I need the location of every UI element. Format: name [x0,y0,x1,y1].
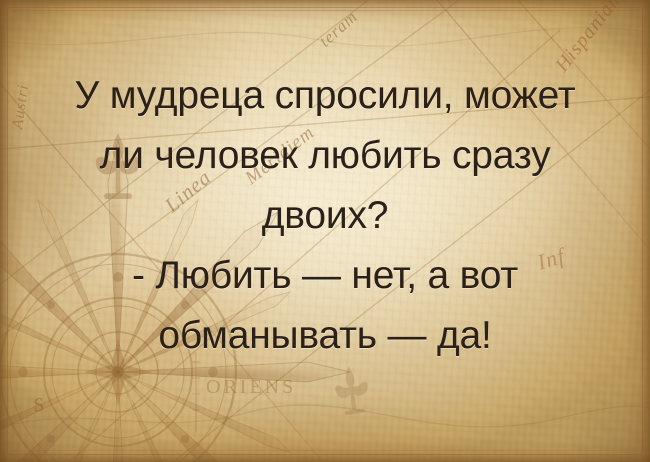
quote-line-2: ли человек любить сразу [0,126,650,186]
quote-line-3: двоих? [0,186,650,246]
quote-poster: Linea Hispaniam Meridiem ORIENS Inf tera… [0,0,650,462]
quote-text-block: У мудреца спросили, может ли человек люб… [0,66,650,366]
quote-line-1: У мудреца спросили, может [0,66,650,126]
quote-line-5: обманывать — да! [0,306,650,366]
quote-line-4: - Любить — нет, а вот [0,246,650,306]
